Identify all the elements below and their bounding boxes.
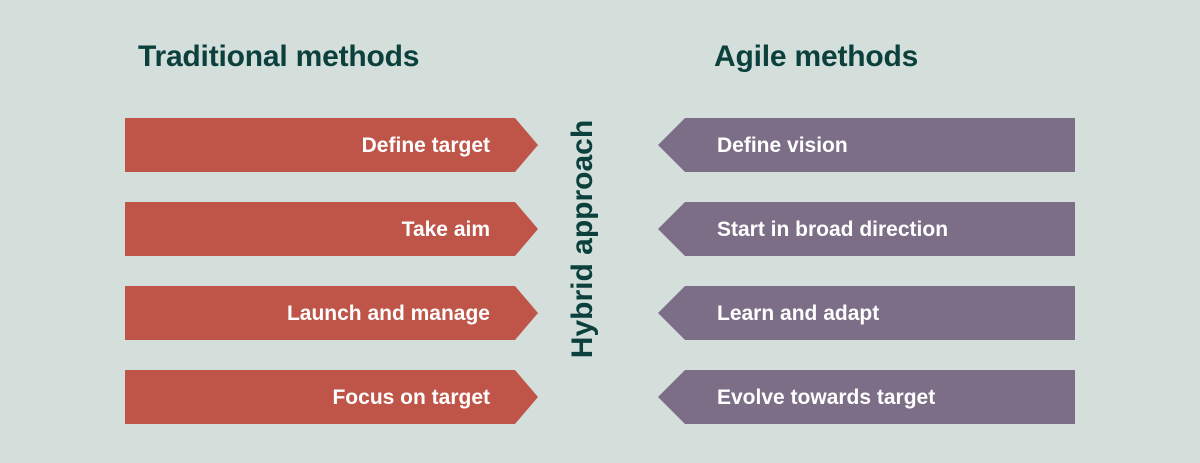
traditional-step-arrow: Focus on target bbox=[125, 370, 538, 424]
agile-step-arrow: Evolve towards target bbox=[658, 370, 1075, 424]
agile-step-arrow: Learn and adapt bbox=[658, 286, 1075, 340]
traditional-methods-title: Traditional methods bbox=[138, 42, 419, 72]
traditional-step-label: Take aim bbox=[402, 219, 490, 240]
agile-step-label: Define vision bbox=[717, 135, 848, 156]
traditional-step-arrow: Define target bbox=[125, 118, 538, 172]
traditional-step-label: Launch and manage bbox=[287, 303, 490, 324]
agile-step-arrow: Define vision bbox=[658, 118, 1075, 172]
hybrid-approach-label: Hybrid approach bbox=[560, 74, 606, 404]
agile-methods-title: Agile methods bbox=[714, 42, 918, 72]
agile-step-label: Start in broad direction bbox=[717, 219, 948, 240]
traditional-step-label: Focus on target bbox=[332, 387, 490, 408]
agile-step-arrow: Start in broad direction bbox=[658, 202, 1075, 256]
traditional-step-label: Define target bbox=[362, 135, 490, 156]
traditional-step-arrow: Take aim bbox=[125, 202, 538, 256]
traditional-step-arrow: Launch and manage bbox=[125, 286, 538, 340]
agile-step-label: Evolve towards target bbox=[717, 387, 935, 408]
agile-step-label: Learn and adapt bbox=[717, 303, 879, 324]
diagram-canvas: Traditional methods Agile methods Hybrid… bbox=[0, 0, 1200, 463]
